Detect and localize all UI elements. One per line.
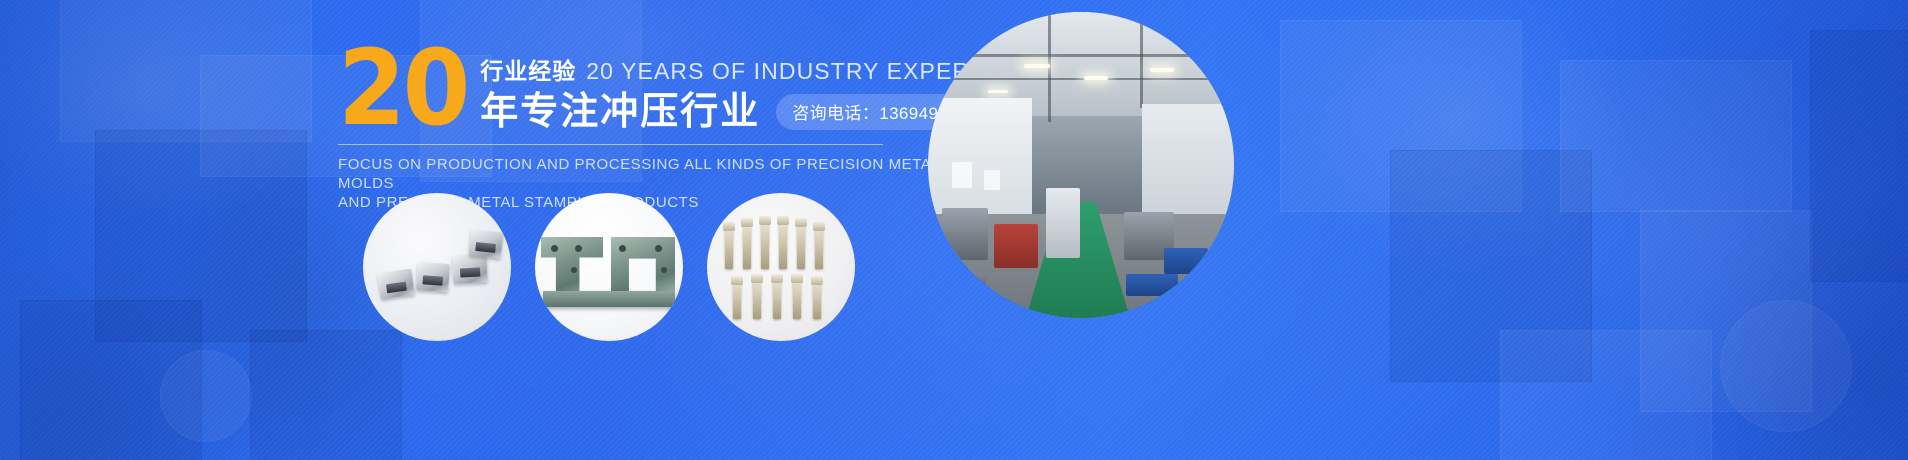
product-circle-mold-plates: [535, 193, 683, 341]
main-headline-cn: 年专注冲压行业: [480, 92, 760, 132]
hero-banner: 20 行业经验 20 YEARS OF INDUSTRY EXPERIENCE …: [0, 0, 1908, 460]
product-circle-terminal-pins: [707, 193, 855, 341]
factory-workshop-circle: [928, 12, 1234, 318]
years-number: 20: [338, 46, 467, 131]
product-circle-connectors: [363, 193, 511, 341]
experience-label-cn: 行业经验: [480, 52, 576, 86]
